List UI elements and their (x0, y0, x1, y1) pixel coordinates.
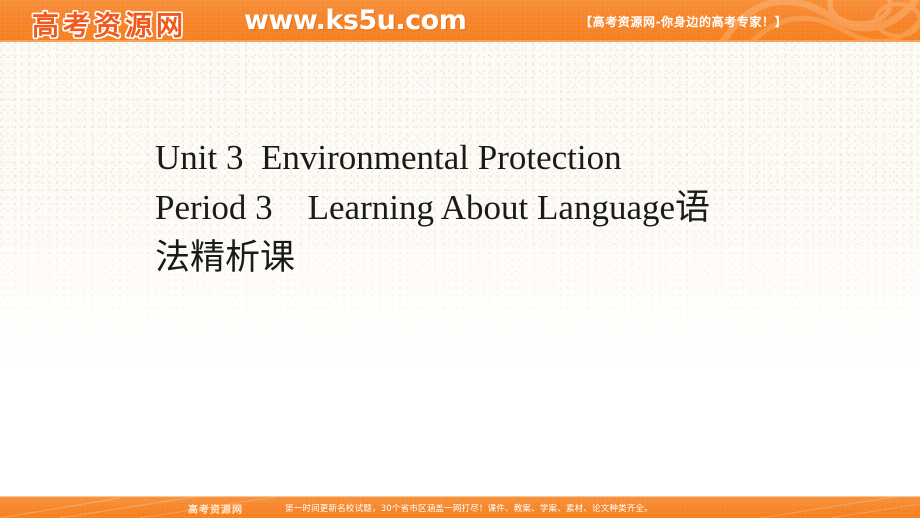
site-tagline: 【高考资源网-你身边的高考专家！】 (580, 13, 787, 30)
title-line-period: Period 3 Learning About Language语 (155, 183, 855, 233)
footer-brand-text: 高考资源网 (188, 501, 243, 516)
site-url-text[interactable]: www.ks5u.com (244, 5, 466, 36)
banner-bottom-rule (0, 40, 920, 42)
title-line-unit: Unit 3 Environmental Protection (155, 133, 855, 183)
title-period-chinese-fragment: 语 (675, 188, 710, 228)
presentation-slide: 高考资源网 www.ks5u.com 【高考资源网-你身边的高考专家！】 Uni… (0, 0, 920, 518)
slide-title-block: Unit 3 Environmental Protection Period 3… (155, 133, 855, 283)
footer-description-text: 第一时间更新名校试题，30个省市区涵盖一网打尽！课件、教案、学案、素材、论文种类… (285, 502, 653, 514)
footer-banner: 高考资源网 第一时间更新名校试题，30个省市区涵盖一网打尽！课件、教案、学案、素… (0, 496, 920, 518)
title-line-chinese: 法精析课 (155, 233, 855, 283)
title-period-english: Period 3 Learning About Language (155, 188, 675, 227)
footer-top-edge (0, 496, 920, 497)
site-logo-chinese[interactable]: 高考资源网 (32, 4, 187, 42)
header-banner: 高考资源网 www.ks5u.com 【高考资源网-你身边的高考专家！】 (0, 0, 920, 42)
